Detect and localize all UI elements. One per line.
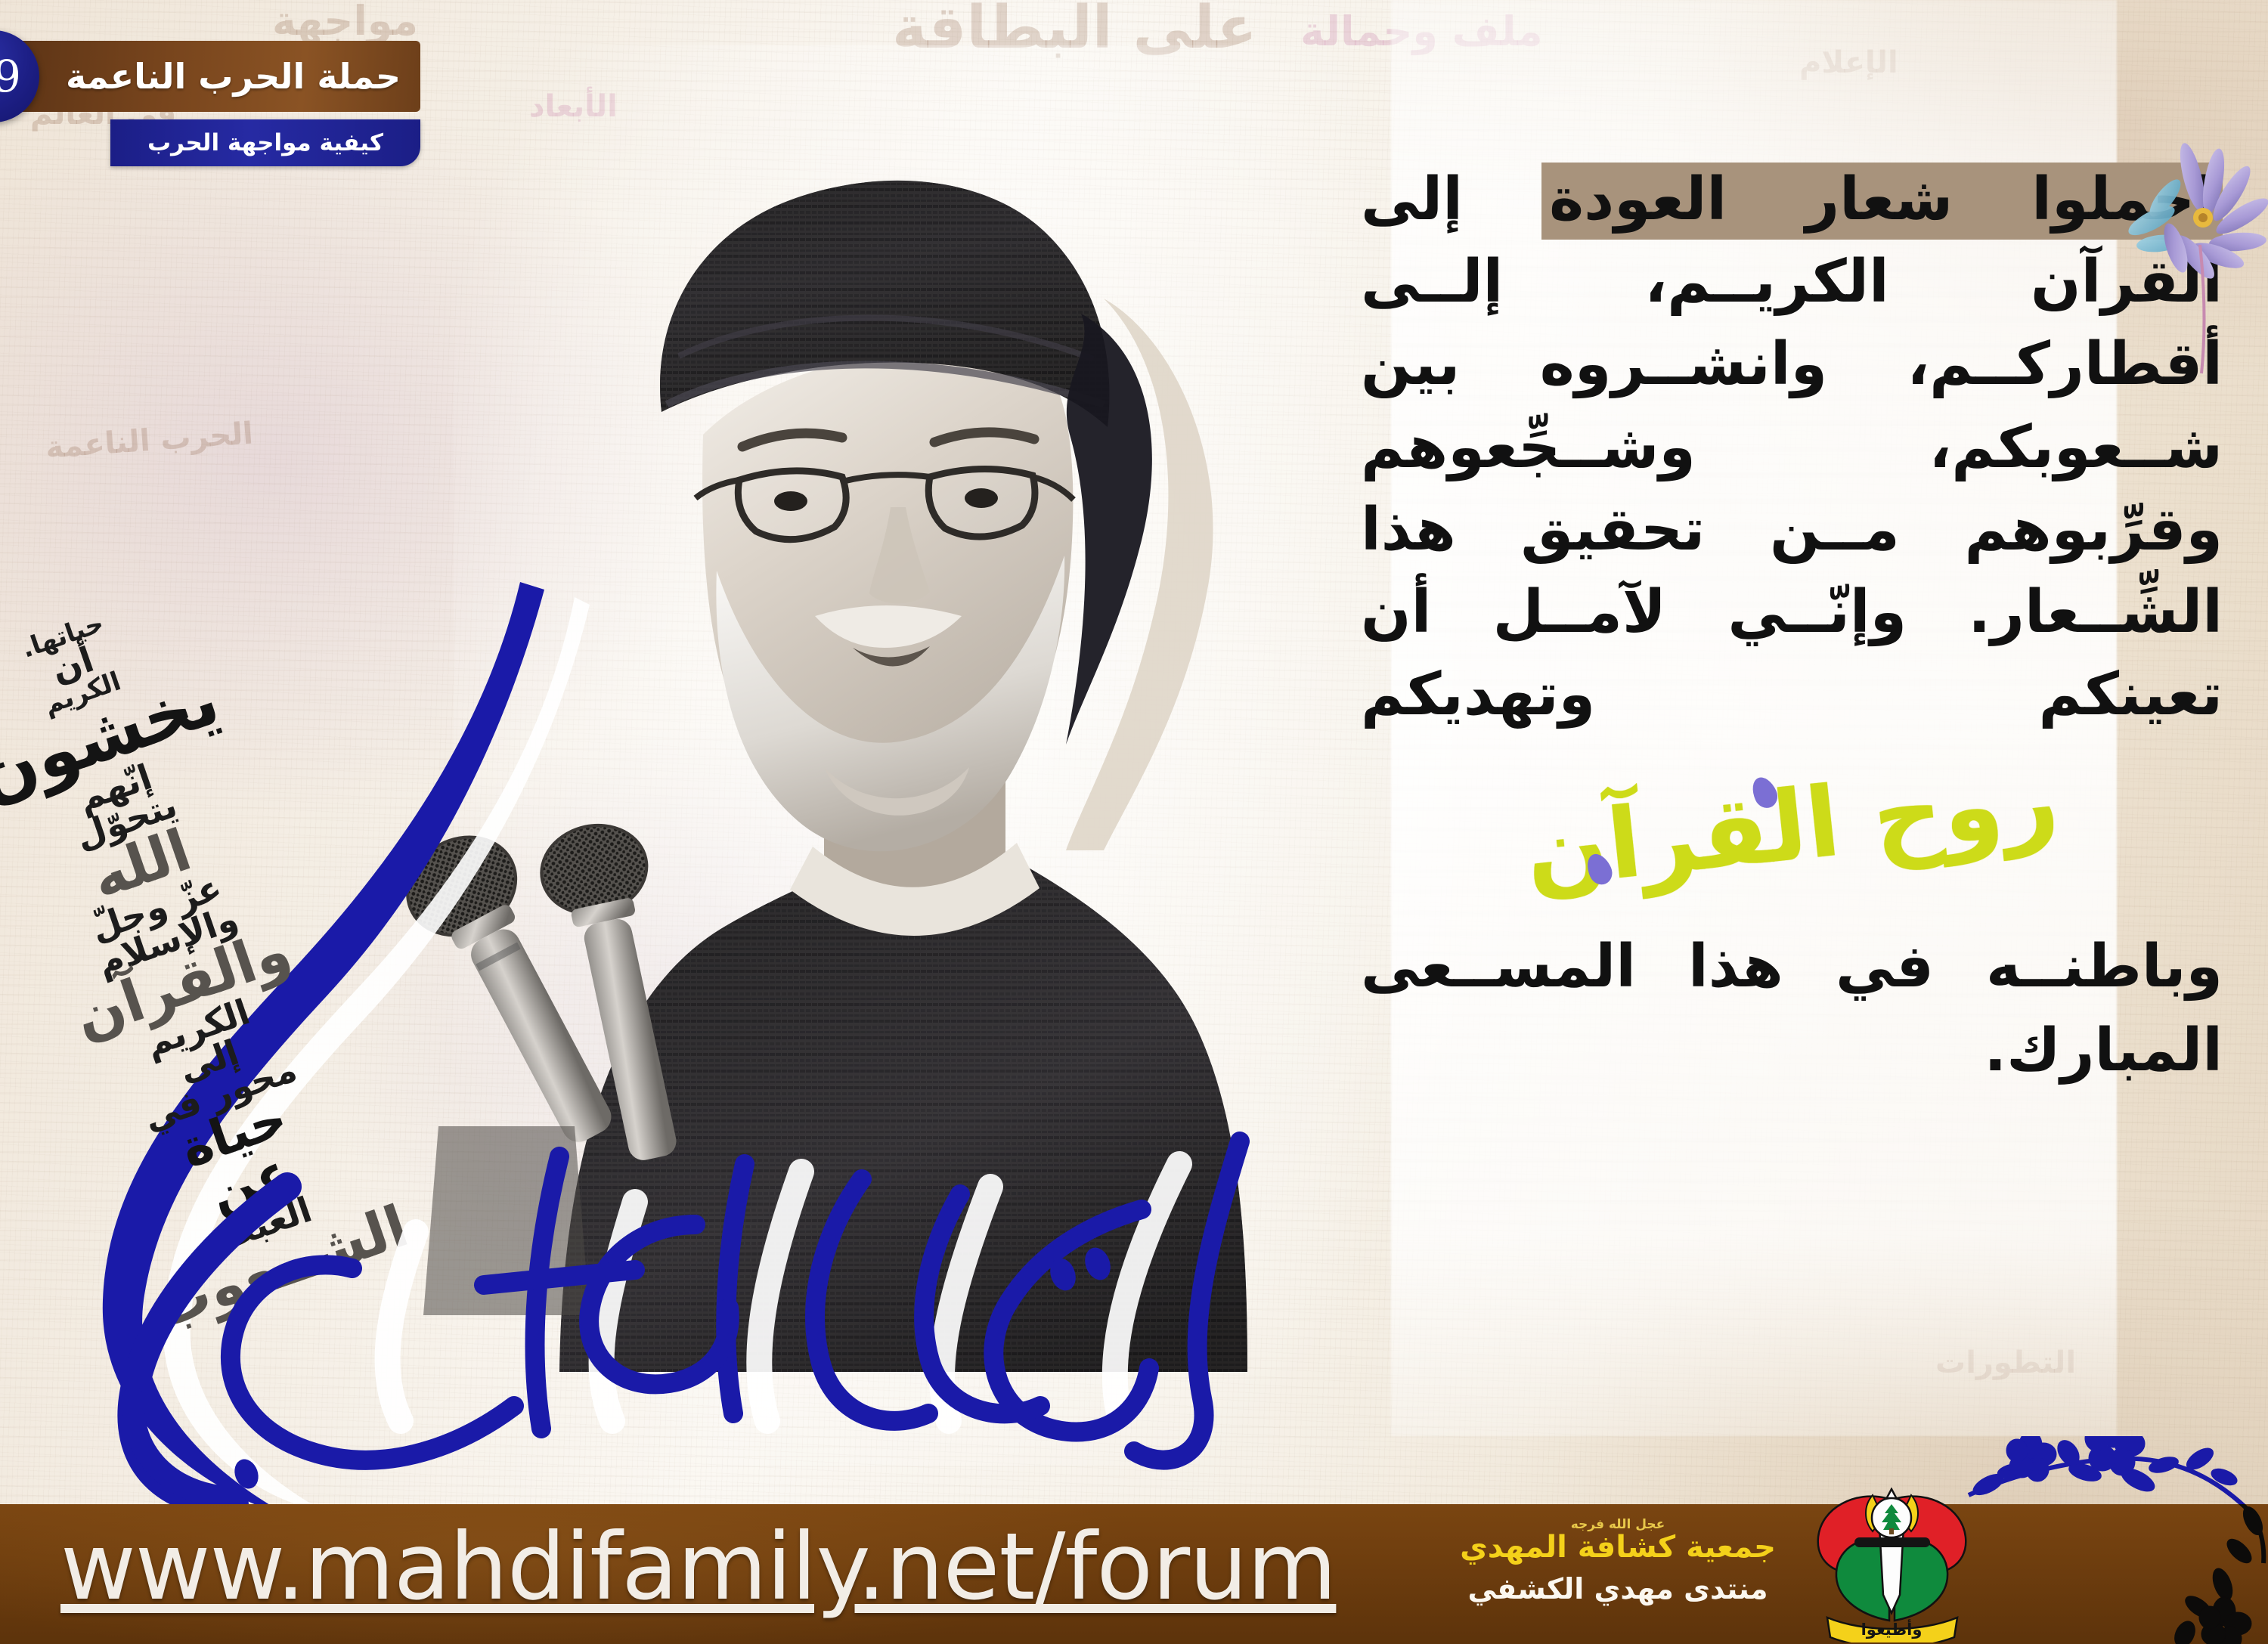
issue-number-badge: 69 bbox=[0, 30, 39, 122]
organization-name-text: جمعية كشافة المهدي bbox=[1460, 1530, 1776, 1565]
quote-rest: إلى القرآن الكريــم، إلــى أقطاركــم، وا… bbox=[1361, 166, 2223, 729]
accent-calligraphy: روح القرآن bbox=[1358, 734, 2225, 920]
accent-calligraphy-text: روح القرآن bbox=[1520, 743, 2064, 911]
campaign-subtitle-bar: كيفية مواجهة الحرب bbox=[110, 119, 420, 166]
quote-main-paragraph: احملوا شعار العودة إلى القرآن الكريــم، … bbox=[1361, 159, 2223, 736]
flower-decoration-icon bbox=[2115, 139, 2268, 389]
website-url-link[interactable]: www.mahdifamily.net/forum bbox=[60, 1521, 1336, 1613]
campaign-title-bar: حملة الحرب الناعمة 69 bbox=[0, 41, 420, 112]
campaign-title: حملة الحرب الناعمة bbox=[66, 56, 401, 97]
organization-block: عجل الله فرجه جمعية كشافة المهدي منتدى م… bbox=[1436, 1518, 1799, 1606]
header-ribbon: حملة الحرب الناعمة 69 كيفية مواجهة الحرب bbox=[0, 41, 420, 166]
signature-icon bbox=[60, 1096, 1285, 1519]
quote-column: احملوا شعار العودة إلى القرآن الكريــم، … bbox=[1361, 159, 2223, 1093]
floral-vine-decoration-icon bbox=[1958, 1436, 2268, 1644]
organization-forum: منتدى مهدي الكشفي bbox=[1436, 1572, 1799, 1607]
quote-tail-paragraph: وباطنــه في هذا المســعى المبارك. bbox=[1361, 925, 2223, 1093]
campaign-subtitle: كيفية مواجهة الحرب bbox=[147, 129, 383, 156]
signature-calligraphy bbox=[60, 1096, 1285, 1519]
poster-canvas: على البطاقة ملف وحمالة مواجهة الأبعاد في… bbox=[0, 0, 2268, 1644]
scout-emblem-icon: وأطيعوا bbox=[1811, 1488, 1973, 1642]
organization-name: عجل الله فرجه جمعية كشافة المهدي bbox=[1436, 1518, 1799, 1565]
emblem-motto: وأطيعوا bbox=[1861, 1618, 1923, 1639]
